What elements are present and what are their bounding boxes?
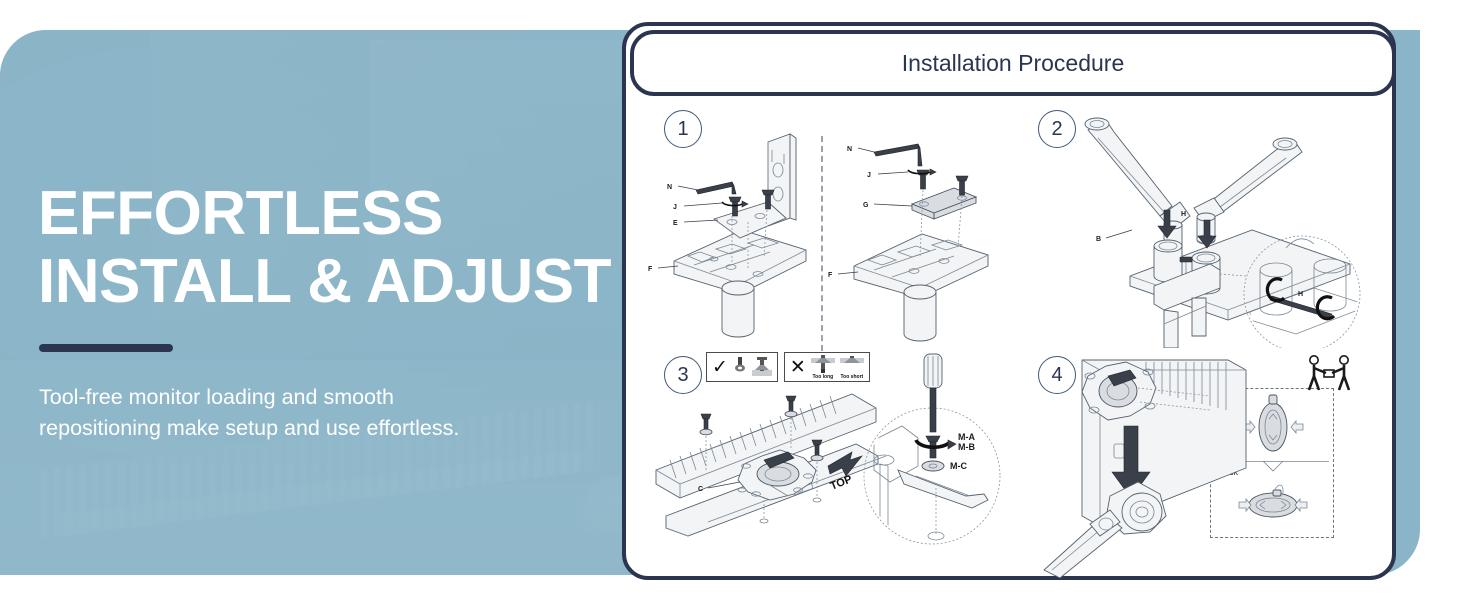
card-title-text: Installation Procedure <box>902 50 1124 77</box>
steps-grid: 1 <box>630 98 1396 580</box>
svg-text:F: F <box>828 272 833 279</box>
step-3: 3 ✓ ✕ Too long <box>636 348 1014 578</box>
headline-line-2: INSTALL & ADJUST <box>38 248 638 316</box>
svg-text:C: C <box>698 486 703 493</box>
svg-text:H: H <box>1181 211 1186 218</box>
step-1: 1 <box>636 98 1014 348</box>
svg-text:J: J <box>867 172 871 179</box>
card-title-bar: Installation Procedure <box>630 30 1396 96</box>
step-4-illustration <box>1014 348 1392 578</box>
installation-card: Installation Procedure 1 <box>622 22 1396 580</box>
svg-text:E: E <box>673 220 678 227</box>
headline-line-1: EFFORTLESS <box>38 180 638 248</box>
step-2-illustration: H B <box>1014 98 1392 348</box>
hero-text-block: EFFORTLESS INSTALL & ADJUST Tool-free mo… <box>38 180 638 444</box>
step-4: 4 Unlock Lock <box>1014 348 1392 578</box>
subcopy-line-1: Tool-free monitor loading and smooth <box>39 382 638 413</box>
svg-text:N: N <box>667 184 672 191</box>
svg-text:J: J <box>673 204 677 211</box>
subcopy-line-2: repositioning make setup and use effortl… <box>39 413 638 444</box>
svg-text:N: N <box>847 146 852 153</box>
step-3-illustration: TOP C <box>636 348 1014 578</box>
svg-text:G: G <box>863 202 869 209</box>
svg-text:H: H <box>1298 291 1303 298</box>
promo-banner: EFFORTLESS INSTALL & ADJUST Tool-free mo… <box>0 0 1464 600</box>
accent-rule <box>39 344 173 352</box>
step-1-illustration: N J E F <box>636 98 1014 348</box>
step-2: 2 <box>1014 98 1392 348</box>
svg-text:M-B: M-B <box>958 442 975 452</box>
svg-text:M-C: M-C <box>950 461 967 471</box>
svg-text:F: F <box>648 266 653 273</box>
svg-text:M-A: M-A <box>958 432 975 442</box>
svg-text:B: B <box>1096 236 1101 243</box>
